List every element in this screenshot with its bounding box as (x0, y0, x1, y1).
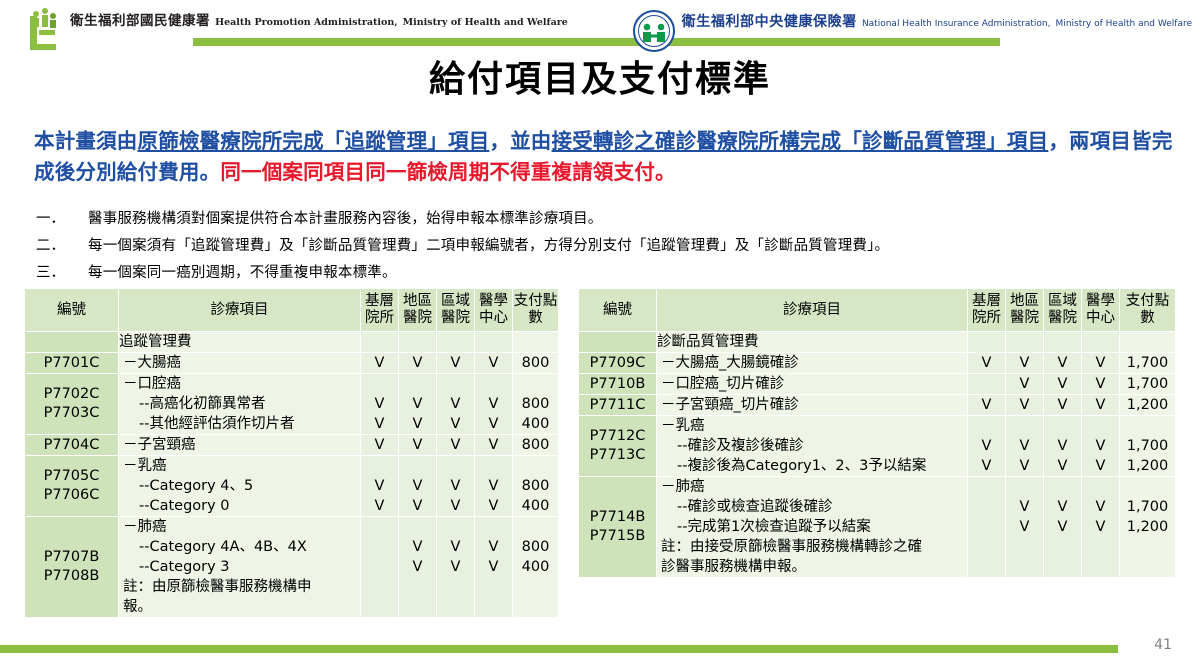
table-head: 編號 診療項目 基層院所 地區醫院 區域醫院 醫學中心 支付點數 (579, 289, 1176, 332)
facility-mark: V (399, 394, 436, 414)
item-line: －子宮頸癌_切片確診 (657, 395, 967, 415)
facility-mark: V (361, 496, 398, 516)
facility-mark-cell: V (437, 435, 475, 456)
points-value (1120, 416, 1175, 436)
facility-mark (361, 597, 398, 617)
facility-mark (1006, 537, 1043, 557)
facility-mark (361, 557, 398, 577)
facility-mark-cell: VV (1082, 477, 1120, 578)
facility-mark-cell: VV (399, 374, 437, 435)
item-line: --確診及複診後確診 (657, 436, 967, 456)
table-row: P7712CP7713C－乳癌--確診及複診後確診--複診後為Category1… (579, 416, 1176, 477)
points-value: 800 (513, 394, 558, 414)
facility-mark-cell: VV (1044, 416, 1082, 477)
facility-mark-cell: V (1044, 374, 1082, 395)
th-district-hospital: 地區醫院 (399, 289, 437, 332)
points-cell: 1,700 (1120, 353, 1176, 374)
table-row: P7702CP7703C－口腔癌--高癌化初篩異常者--其他經評估須作切片者 V… (25, 374, 559, 435)
points-value (513, 517, 558, 537)
points-value: 400 (513, 414, 558, 434)
table-row: P7707BP7708B－肺癌--Category 4A、4B、4X--Cate… (25, 517, 559, 618)
facility-mark-cell: V (1082, 374, 1120, 395)
points-value: 400 (513, 557, 558, 577)
code-value: P7710B (579, 375, 656, 394)
code-cell: P7702CP7703C (25, 374, 119, 435)
code-value: P7715B (579, 527, 656, 546)
points-value: 400 (513, 496, 558, 516)
lead-seg-6-red: 同一個案同項目同一篩檢周期不得重複請領支付。 (220, 160, 675, 184)
note-number: 三． (30, 260, 88, 287)
table-row: P7711C－子宮頸癌_切片確診VVVV1,200 (579, 395, 1176, 416)
facility-mark (361, 577, 398, 597)
points-value: 1,700 (1120, 353, 1175, 373)
points-value: 1,700 (1120, 497, 1175, 517)
facility-mark (1044, 477, 1081, 497)
code-value: P7708B (25, 567, 118, 586)
facility-mark (399, 517, 436, 537)
facility-mark-cell: V (399, 435, 437, 456)
facility-mark-cell: V (475, 435, 513, 456)
code-value: P7704C (25, 436, 118, 455)
item-cell: －大腸癌 (119, 353, 361, 374)
section-title-cell: 追蹤管理費 (119, 332, 361, 353)
facility-mark (361, 517, 398, 537)
facility-mark: V (475, 394, 512, 414)
facility-mark (475, 517, 512, 537)
table-row: P7704C－子宮頸癌VVVV800 (25, 435, 559, 456)
facility-mark-cell: V (1044, 395, 1082, 416)
facility-mark: V (1006, 374, 1043, 394)
facility-mark: V (399, 414, 436, 434)
section-mark-cell (437, 332, 475, 353)
facility-mark (399, 374, 436, 394)
facility-mark (1082, 477, 1119, 497)
facility-mark (437, 597, 474, 617)
right-table-body: 診斷品質管理費 P7709C－大腸癌_大腸鏡確診VVVV1,700P7710B－… (579, 332, 1176, 578)
lead-seg-4-underlined: 接受轉診之確診醫療院所構完成「診斷品質管理」項目 (552, 129, 1049, 153)
facility-mark-cell: VV (1082, 416, 1120, 477)
facility-mark: V (1082, 517, 1119, 537)
facility-mark: V (437, 476, 474, 496)
points-cell: 1,700 (1120, 374, 1176, 395)
facility-mark: V (437, 394, 474, 414)
table-header-row: 編號 診療項目 基層院所 地區醫院 區域醫院 醫學中心 支付點數 (25, 289, 559, 332)
facility-mark (968, 374, 1005, 394)
facility-mark-cell: VV (1006, 416, 1044, 477)
facility-mark: V (399, 496, 436, 516)
facility-mark: V (968, 395, 1005, 415)
note-text: 每一個案須有「追蹤管理費」及「診斷品質管理費」二項申報編號者，方得分別支付「追蹤… (88, 233, 1180, 260)
facility-mark (475, 577, 512, 597)
facility-mark-cell: VV (437, 456, 475, 517)
points-value: 800 (513, 353, 558, 373)
points-value (513, 597, 558, 617)
pay-table: 編號 診療項目 基層院所 地區醫院 區域醫院 醫學中心 支付點數 追蹤管理費 P… (24, 288, 559, 618)
section-mark-cell (1006, 332, 1044, 353)
item-line: --其他經評估須作切片者 (119, 414, 360, 434)
item-cell: －肺癌--確診或檢查追蹤後確診--完成第1次檢查追蹤予以結案註：由接受原篩檢醫事… (657, 477, 968, 578)
points-value: 800 (513, 435, 558, 455)
facility-mark: V (437, 537, 474, 557)
item-line: 診醫事服務機構申報。 (657, 557, 967, 577)
facility-mark: V (475, 496, 512, 516)
table-row: P7709C－大腸癌_大腸鏡確診VVVV1,700 (579, 353, 1176, 374)
lead-seg-1: 本計畫須由 (34, 129, 138, 153)
facility-mark-cell: V (437, 353, 475, 374)
facility-mark-cell: VV (475, 456, 513, 517)
points-value: 1,200 (1120, 395, 1175, 415)
facility-mark (968, 557, 1005, 577)
code-value: P7709C (579, 354, 656, 373)
item-line: --Category 4A、4B、4X (119, 537, 360, 557)
facility-mark: V (399, 537, 436, 557)
facility-mark: V (1082, 374, 1119, 394)
facility-mark-cell (968, 477, 1006, 578)
facility-mark: V (1082, 436, 1119, 456)
facility-mark: V (1044, 353, 1081, 373)
facility-mark-cell: V (1006, 353, 1044, 374)
item-cell: －乳癌--Category 4、5--Category 0 (119, 456, 361, 517)
facility-mark: V (475, 537, 512, 557)
code-cell: P7710B (579, 374, 657, 395)
facility-mark (1082, 537, 1119, 557)
th-code: 編號 (25, 289, 119, 332)
note-text: 每一個案同一癌別週期，不得重複申報本標準。 (88, 260, 1180, 287)
item-line: －大腸癌_大腸鏡確診 (657, 353, 967, 373)
item-line: －乳癌 (657, 416, 967, 436)
facility-mark: V (399, 353, 436, 373)
facility-mark: V (399, 557, 436, 577)
code-value: P7703C (25, 404, 118, 423)
hpa-people-logo-icon (26, 8, 64, 52)
facility-mark: V (1044, 374, 1081, 394)
th-primary-clinic: 基層院所 (361, 289, 399, 332)
item-line: --完成第1次檢查追蹤予以結案 (657, 517, 967, 537)
item-line: －肺癌 (657, 477, 967, 497)
points-value (1120, 557, 1175, 577)
points-value (513, 577, 558, 597)
facility-mark: V (437, 353, 474, 373)
facility-mark-cell: V (361, 353, 399, 374)
facility-mark: V (1082, 456, 1119, 476)
nhia-logo-cn: 衛生福利部中央健康保險署 (682, 14, 857, 30)
facility-mark (399, 577, 436, 597)
points-value (1120, 477, 1175, 497)
facility-mark: V (1044, 436, 1081, 456)
item-cell: －子宮頸癌 (119, 435, 361, 456)
footer-green-bar (0, 645, 1118, 653)
code-value: P7712C (579, 427, 656, 446)
code-value: P7706C (25, 486, 118, 505)
points-cell: 1,7001,200 (1120, 477, 1176, 578)
facility-mark (968, 477, 1005, 497)
table-head: 編號 診療項目 基層院所 地區醫院 區域醫院 醫學中心 支付點數 (25, 289, 559, 332)
section-mark-cell (399, 332, 437, 353)
points-value (513, 374, 558, 394)
facility-mark-cell: V (968, 353, 1006, 374)
note-number: 一． (30, 206, 88, 233)
facility-mark: V (1082, 353, 1119, 373)
facility-mark (1082, 557, 1119, 577)
points-value (1120, 537, 1175, 557)
facility-mark (399, 456, 436, 476)
facility-mark-cell: VV (1006, 477, 1044, 578)
facility-mark: V (968, 456, 1005, 476)
facility-mark: V (1006, 456, 1043, 476)
nhia-seal-icon (633, 10, 675, 52)
code-cell: P7707BP7708B (25, 517, 119, 618)
facility-mark: V (1006, 353, 1043, 373)
facility-mark (475, 374, 512, 394)
facility-mark-cell: V (361, 435, 399, 456)
section-mark-cell (1044, 332, 1082, 353)
lead-paragraph: 本計畫須由原篩檢醫療院所完成「追蹤管理」項目，並由接受轉診之確診醫療院所構完成「… (34, 126, 1174, 188)
code-cell: P7709C (579, 353, 657, 374)
facility-mark (399, 597, 436, 617)
code-cell: P7714BP7715B (579, 477, 657, 578)
facility-mark: V (1082, 395, 1119, 415)
table-row: P7710B－口腔癌_切片確診 VVV1,700 (579, 374, 1176, 395)
item-line: －大腸癌 (119, 353, 360, 373)
item-cell: －肺癌--Category 4A、4B、4X--Category 3註：由原篩檢… (119, 517, 361, 618)
table-header-row: 編號 診療項目 基層院所 地區醫院 區域醫院 醫學中心 支付點數 (579, 289, 1176, 332)
facility-mark-cell: VV (361, 456, 399, 517)
facility-mark (437, 456, 474, 476)
facility-mark-cell: V (968, 395, 1006, 416)
points-cell: 800 (513, 435, 559, 456)
th-code: 編號 (579, 289, 657, 332)
hpa-logo-en-1: Health Promotion Administration, (215, 17, 397, 28)
code-value: P7705C (25, 467, 118, 486)
facility-mark: V (399, 476, 436, 496)
th-regional-hospital: 區域醫院 (1044, 289, 1082, 332)
facility-mark (1006, 416, 1043, 436)
facility-mark: V (361, 394, 398, 414)
facility-mark: V (361, 435, 398, 455)
facility-mark-cell: V (1006, 374, 1044, 395)
points-value: 1,200 (1120, 456, 1175, 476)
tracking-management-fee-table: 編號 診療項目 基層院所 地區醫院 區域醫院 醫學中心 支付點數 追蹤管理費 P… (24, 288, 559, 618)
section-mark-cell (475, 332, 513, 353)
facility-mark: V (1044, 497, 1081, 517)
code-cell: P7705CP7706C (25, 456, 119, 517)
facility-mark-cell: VV (475, 374, 513, 435)
table-row: P7705CP7706C－乳癌--Category 4、5--Category … (25, 456, 559, 517)
note-item: 一． 醫事服務機構須對個案提供符合本計畫服務內容後，始得申報本標準診療項目。 (30, 206, 1180, 233)
facility-mark-cell: VV (361, 374, 399, 435)
hpa-logo-cn: 衛生福利部國民健康署 (70, 13, 210, 29)
section-points-cell (1120, 332, 1176, 353)
page-number: 41 (1154, 637, 1172, 653)
facility-mark-cell: VV (437, 374, 475, 435)
facility-mark-cell: V (1044, 353, 1082, 374)
code-value: P7713C (579, 446, 656, 465)
note-number: 二． (30, 233, 88, 260)
facility-mark-cell: VV (968, 416, 1006, 477)
section-code-cell (579, 332, 657, 353)
facility-mark: V (1006, 436, 1043, 456)
diagnosis-quality-fee-table: 編號 診療項目 基層院所 地區醫院 區域醫院 醫學中心 支付點數 診斷品質管理費… (578, 288, 1176, 578)
facility-mark-cell: VV (399, 456, 437, 517)
facility-mark-cell (968, 374, 1006, 395)
points-value: 1,700 (1120, 374, 1175, 394)
facility-mark: V (1006, 517, 1043, 537)
code-value: P7714B (579, 508, 656, 527)
item-line: 註：由接受原篩檢醫事服務機構轉診之確 (657, 537, 967, 557)
points-cell: 1,200 (1120, 395, 1176, 416)
facility-mark (475, 456, 512, 476)
nhia-logo-en-2: Ministry of Health and Welfare (1056, 19, 1192, 29)
item-line: --Category 3 (119, 557, 360, 577)
facility-mark: V (475, 435, 512, 455)
th-primary-clinic: 基層院所 (968, 289, 1006, 332)
numbered-notes: 一． 醫事服務機構須對個案提供符合本計畫服務內容後，始得申報本標準診療項目。 二… (30, 206, 1180, 287)
points-cell: 800 (513, 353, 559, 374)
lead-seg-3: ，並由 (489, 129, 551, 153)
item-cell: －子宮頸癌_切片確診 (657, 395, 968, 416)
points-value: 1,700 (1120, 436, 1175, 456)
facility-mark: V (437, 414, 474, 434)
item-line: --確診或檢查追蹤後確診 (657, 497, 967, 517)
section-code-cell (25, 332, 119, 353)
page-title: 給付項目及支付標準 (0, 50, 1200, 102)
facility-mark (968, 517, 1005, 537)
th-regional-hospital: 區域醫院 (437, 289, 475, 332)
table-row: P7701C－大腸癌VVVV800 (25, 353, 559, 374)
facility-mark: V (1044, 456, 1081, 476)
item-line: --高癌化初篩異常者 (119, 394, 360, 414)
facility-mark-cell (361, 517, 399, 618)
facility-mark (968, 416, 1005, 436)
facility-mark: V (399, 435, 436, 455)
nhia-logo: 衛生福利部中央健康保險署 National Health Insurance A… (633, 10, 1192, 52)
facility-mark (1044, 557, 1081, 577)
left-table-body: 追蹤管理費 P7701C－大腸癌VVVV800P7702CP7703C－口腔癌-… (25, 332, 559, 618)
facility-mark: V (475, 353, 512, 373)
item-cell: －乳癌--確診及複診後確診--複診後為Category1、2、3予以結案 (657, 416, 968, 477)
points-value: 1,200 (1120, 517, 1175, 537)
item-cell: －口腔癌--高癌化初篩異常者--其他經評估須作切片者 (119, 374, 361, 435)
table-section-row: 診斷品質管理費 (579, 332, 1176, 353)
facility-mark: V (1082, 497, 1119, 517)
hpa-logo: 衛生福利部國民健康署 Health Promotion Administrati… (26, 8, 568, 52)
facility-mark-cell: V (475, 353, 513, 374)
facility-mark: V (361, 353, 398, 373)
code-cell: P7712CP7713C (579, 416, 657, 477)
item-line: 報。 (119, 597, 360, 617)
th-points: 支付點數 (1120, 289, 1176, 332)
code-value: P7701C (25, 354, 118, 373)
facility-mark-cell: V (1082, 353, 1120, 374)
facility-mark (361, 374, 398, 394)
section-mark-cell (361, 332, 399, 353)
code-cell: P7701C (25, 353, 119, 374)
th-item: 診療項目 (657, 289, 968, 332)
facility-mark-cell: VV (1044, 477, 1082, 578)
th-district-hospital: 地區醫院 (1006, 289, 1044, 332)
facility-mark-cell: VV (475, 517, 513, 618)
note-text: 醫事服務機構須對個案提供符合本計畫服務內容後，始得申報本標準診療項目。 (88, 206, 1180, 233)
section-title-cell: 診斷品質管理費 (657, 332, 968, 353)
pay-table: 編號 診療項目 基層院所 地區醫院 區域醫院 醫學中心 支付點數 診斷品質管理費… (578, 288, 1176, 578)
facility-mark (475, 597, 512, 617)
facility-mark: V (968, 436, 1005, 456)
item-line: 註：由原篩檢醫事服務機構申 (119, 577, 360, 597)
note-item: 三． 每一個案同一癌別週期，不得重複申報本標準。 (30, 260, 1180, 287)
item-cell: －大腸癌_大腸鏡確診 (657, 353, 968, 374)
item-line: －子宮頸癌 (119, 435, 360, 455)
code-cell: P7711C (579, 395, 657, 416)
facility-mark: V (968, 353, 1005, 373)
nhia-logo-en-1: National Health Insurance Administration… (862, 19, 1051, 29)
facility-mark-cell: VV (437, 517, 475, 618)
points-value: 800 (513, 476, 558, 496)
facility-mark (968, 537, 1005, 557)
lead-seg-2-underlined: 原篩檢醫療院所完成「追蹤管理」項目 (138, 129, 490, 153)
item-line: －口腔癌_切片確診 (657, 374, 967, 394)
points-cell: 800400 (513, 374, 559, 435)
facility-mark: V (475, 476, 512, 496)
facility-mark-cell: V (1082, 395, 1120, 416)
points-cell: 1,7001,200 (1120, 416, 1176, 477)
code-value: P7707B (25, 548, 118, 567)
hpa-logo-en-2: Ministry of Health and Welfare (403, 17, 568, 28)
facility-mark: V (437, 435, 474, 455)
facility-mark (437, 577, 474, 597)
points-cell: 800400 (513, 456, 559, 517)
code-value: P7711C (579, 396, 656, 415)
item-line: －肺癌 (119, 517, 360, 537)
facility-mark: V (475, 414, 512, 434)
table-row: P7714BP7715B－肺癌--確診或檢查追蹤後確診--完成第1次檢查追蹤予以… (579, 477, 1176, 578)
points-value (513, 456, 558, 476)
facility-mark: V (361, 414, 398, 434)
points-value: 800 (513, 537, 558, 557)
item-line: －乳癌 (119, 456, 360, 476)
th-points: 支付點數 (513, 289, 559, 332)
table-section-row: 追蹤管理費 (25, 332, 559, 353)
facility-mark: V (1044, 395, 1081, 415)
facility-mark: V (437, 496, 474, 516)
facility-mark (361, 537, 398, 557)
section-mark-cell (968, 332, 1006, 353)
points-cell: 800400 (513, 517, 559, 618)
facility-mark (968, 497, 1005, 517)
facility-mark: V (475, 557, 512, 577)
item-line: --Category 4、5 (119, 476, 360, 496)
facility-mark-cell: VV (399, 517, 437, 618)
item-line: --Category 0 (119, 496, 360, 516)
facility-mark (437, 374, 474, 394)
facility-mark: V (437, 557, 474, 577)
code-value: P7702C (25, 385, 118, 404)
facility-mark (1006, 477, 1043, 497)
section-mark-cell (1082, 332, 1120, 353)
facility-mark-cell: V (399, 353, 437, 374)
th-medical-center: 醫學中心 (475, 289, 513, 332)
facility-mark (1044, 416, 1081, 436)
item-line: －口腔癌 (119, 374, 360, 394)
facility-mark: V (1044, 517, 1081, 537)
item-line: --複診後為Category1、2、3予以結案 (657, 456, 967, 476)
facility-mark-cell: V (1006, 395, 1044, 416)
facility-mark (1044, 537, 1081, 557)
facility-mark: V (361, 476, 398, 496)
facility-mark: V (1006, 497, 1043, 517)
facility-mark: V (1006, 395, 1043, 415)
code-cell: P7704C (25, 435, 119, 456)
note-item: 二． 每一個案須有「追蹤管理費」及「診斷品質管理費」二項申報編號者，方得分別支付… (30, 233, 1180, 260)
